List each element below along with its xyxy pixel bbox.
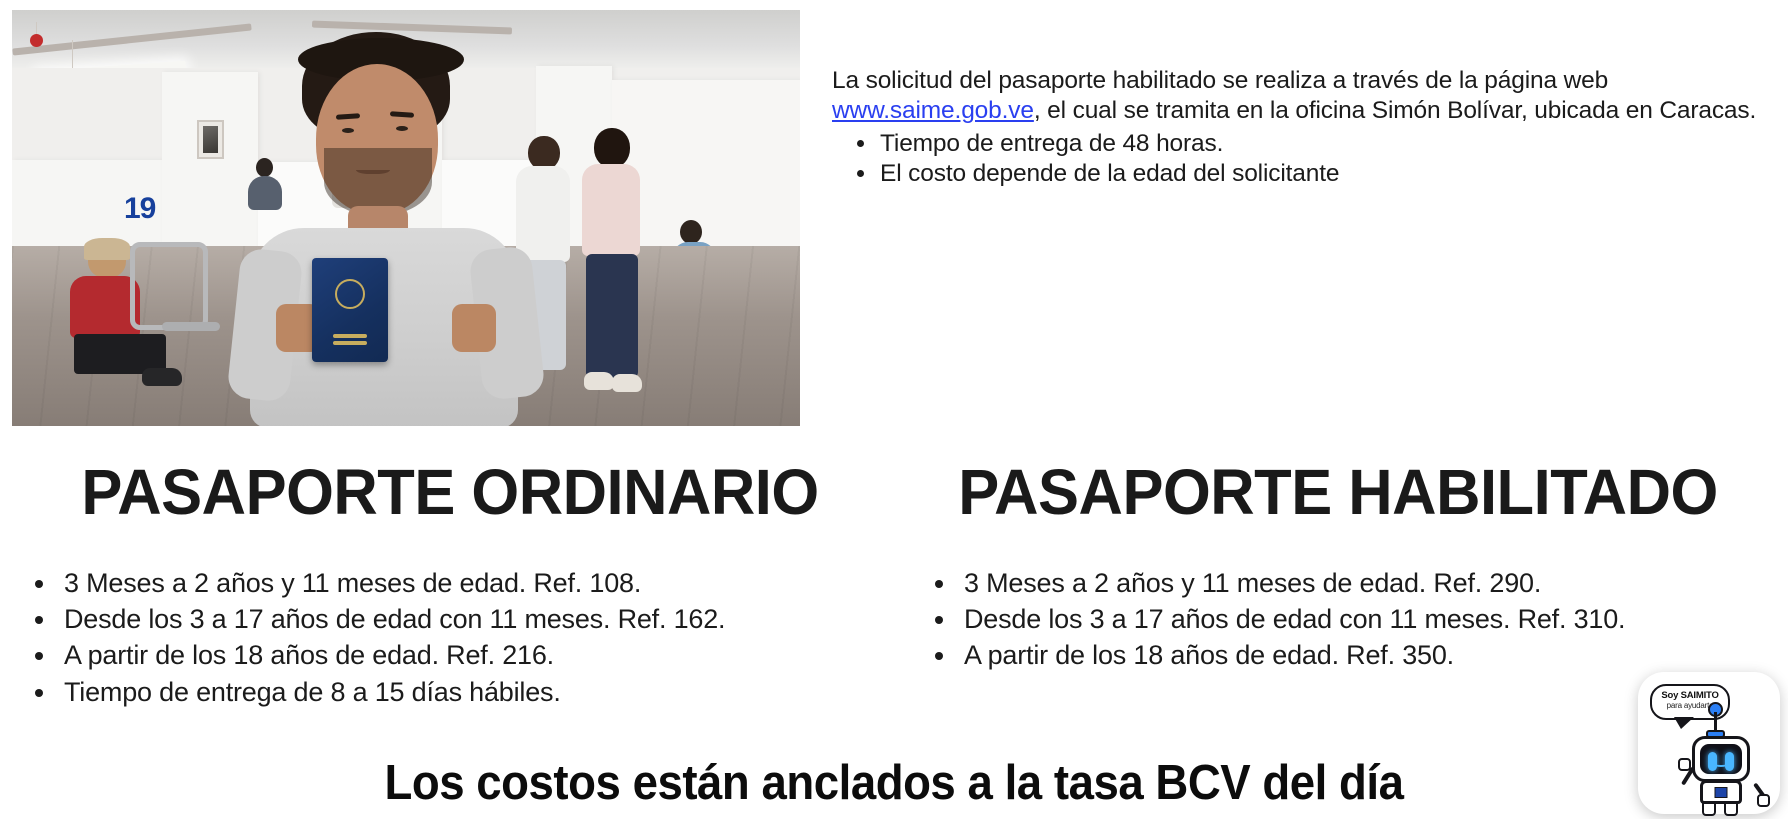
passport-expedited-title: PASAPORTE HABILITADO [906, 455, 1770, 529]
chat-bubble-line1: Soy SAIMITO [1652, 691, 1728, 701]
photo-standing-person [576, 128, 662, 420]
passport-expedited-list: 3 Meses a 2 años y 11 meses de edad. Ref… [920, 565, 1720, 674]
photo-figure-shoe [584, 372, 614, 390]
intro-text-after-link: , el cual se tramita en la oficina Simón… [1034, 97, 1756, 124]
saimito-chat-widget[interactable]: Soy SAIMITO para ayudarte [1638, 672, 1780, 814]
list-item: Desde los 3 a 17 años de edad con 11 mes… [58, 601, 780, 637]
intro-bullet-item: El costo depende de la edad del solicita… [878, 159, 1780, 189]
photo-main-person [208, 28, 588, 426]
list-item: 3 Meses a 2 años y 11 meses de edad. Ref… [958, 565, 1720, 601]
robot-body [1700, 780, 1742, 804]
robot-smile [1713, 759, 1729, 767]
photo-ornament [30, 34, 43, 47]
photo-person-hand [452, 304, 496, 352]
photo-waiting-chair [130, 242, 208, 330]
intro-paragraph: La solicitud del pasaporte habilitado se… [832, 66, 1780, 126]
saime-website-link[interactable]: www.saime.gob.ve [832, 97, 1034, 124]
robot-head [1692, 736, 1750, 782]
saime-office-photo: 19 25 [12, 10, 800, 426]
photo-canvas: 19 25 [12, 10, 800, 426]
robot-hand-left [1678, 758, 1691, 771]
intro-block: La solicitud del pasaporte habilitado se… [832, 66, 1780, 189]
bcv-rate-note: Los costos están anclados a la tasa BCV … [63, 755, 1726, 811]
robot-assistant-icon [1682, 702, 1768, 806]
list-item: Tiempo de entrega de 8 a 15 días hábiles… [58, 674, 780, 710]
intro-bullet-list: Tiempo de entrega de 48 horas. El costo … [832, 129, 1780, 189]
passport-ordinary-list: 3 Meses a 2 años y 11 meses de edad. Ref… [20, 565, 780, 710]
photo-figure-cap [84, 238, 130, 260]
list-item: A partir de los 18 años de edad. Ref. 21… [58, 637, 780, 673]
photo-ornament-string [72, 40, 73, 70]
photo-figure-head [680, 220, 702, 244]
photo-person-eye [342, 128, 354, 133]
photo-figure-body [582, 164, 640, 256]
photo-figure-head [594, 128, 630, 168]
photo-figure-shoe [142, 368, 182, 386]
photo-person-eye [396, 126, 408, 131]
photo-figure-shoe [612, 374, 642, 392]
page-root: 19 25 [0, 0, 1788, 819]
robot-hand-right [1757, 794, 1770, 807]
intro-text-before-link: La solicitud del pasaporte habilitado se… [832, 67, 1608, 94]
intro-bullet-item: Tiempo de entrega de 48 horas. [878, 129, 1780, 159]
photo-figure-legs [586, 254, 638, 378]
robot-leg-right [1724, 802, 1738, 816]
list-item: Desde los 3 a 17 años de edad con 11 mes… [958, 601, 1720, 637]
robot-face-screen [1700, 744, 1742, 774]
robot-chest-badge [1715, 787, 1728, 798]
venezuelan-passport [312, 258, 388, 362]
photo-booth-number: 19 [124, 192, 155, 226]
list-item: 3 Meses a 2 años y 11 meses de edad. Ref… [58, 565, 780, 601]
list-item: A partir de los 18 años de edad. Ref. 35… [958, 637, 1720, 673]
passport-ordinary-title: PASAPORTE ORDINARIO [18, 455, 882, 529]
robot-antenna-stem [1714, 712, 1717, 732]
robot-leg-left [1702, 802, 1716, 816]
